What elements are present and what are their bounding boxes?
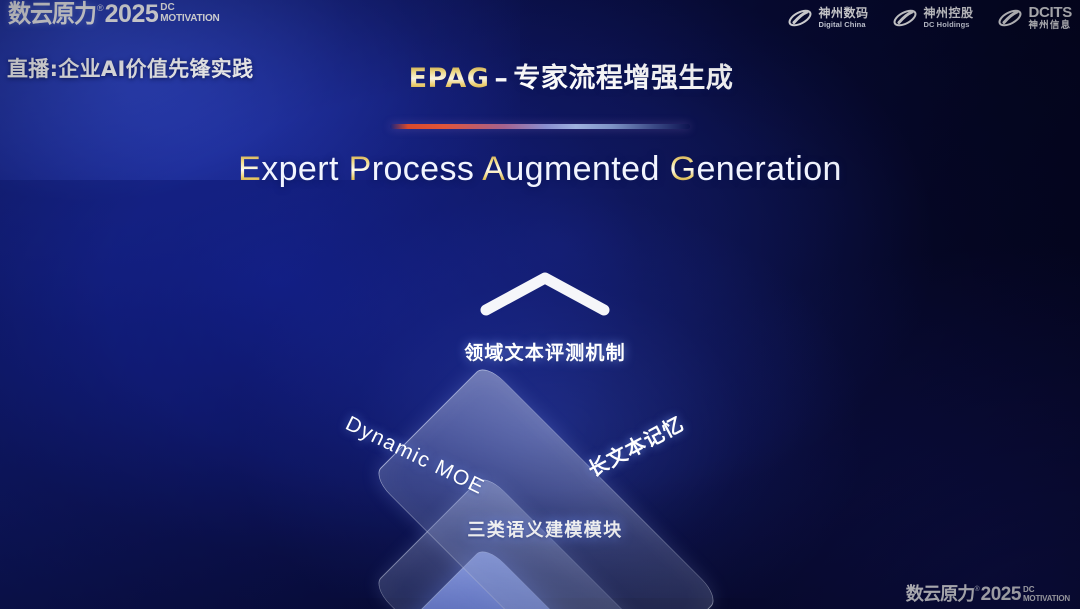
subtitle-part-6: G [670, 150, 697, 188]
layered-architecture-diagram: 领域文本评测机制 Dynamic MOE 长文本记忆 三类语义建模模块 [300, 228, 790, 568]
brand-year: 2025 [105, 2, 159, 27]
logo-en-name: DCITS [1028, 5, 1072, 20]
subtitle-part-4: A [482, 150, 505, 188]
swirl-logo-icon [787, 7, 813, 29]
brand-motivation-label: MOTIVATION [160, 13, 219, 24]
subtitle-part-1: xpert [261, 150, 348, 188]
watermark-year: 2025 [981, 585, 1021, 605]
logo-dcits: DCITS 神州信息 [997, 5, 1072, 31]
logo-en-name: Digital China [818, 20, 868, 29]
slide-subtitle: Expert Process Augmented Generation [0, 150, 1080, 189]
diagram-layer-top-label: 领域文本评测机制 [300, 338, 790, 365]
watermark-name-cn: 数云原力 [906, 585, 975, 605]
partner-logo-group: 神州数码 Digital China 神州控股 DC Holdings DCIT… [787, 5, 1072, 31]
brand-registered-mark: ® [97, 2, 104, 14]
brand-dc-motivation: DC MOTIVATION [160, 2, 219, 24]
brand-name-cn: 数云原力 [8, 2, 96, 28]
subtitle-part-3: rocess [372, 150, 483, 188]
slide-canvas: 数云原力 ® 2025 DC MOTIVATION 直播:企业AI价值先锋实践 … [0, 0, 1080, 609]
watermark-motivation-label: MOTIVATION [1023, 594, 1070, 603]
watermark-logo: 数云原力 ® 2025 DC MOTIVATION [906, 585, 1070, 605]
subtitle-part-7: eneration [696, 150, 841, 188]
brand-logo: 数云原力 ® 2025 DC MOTIVATION [8, 2, 220, 28]
logo-digital-china-text: 神州数码 Digital China [818, 7, 868, 29]
title-acronym: EPAG [409, 63, 490, 94]
title-chinese: 专家流程增强生成 [513, 63, 733, 94]
subtitle-part-0: E [238, 150, 261, 188]
logo-dc-holdings: 神州控股 DC Holdings [892, 7, 973, 29]
subtitle-part-5: ugmented [505, 150, 669, 188]
subtitle-part-2: P [349, 150, 372, 188]
swirl-logo-icon [892, 7, 918, 29]
title-divider [390, 124, 690, 129]
logo-digital-china: 神州数码 Digital China [787, 7, 868, 29]
watermark-dc-motivation: DC MOTIVATION [1023, 585, 1070, 603]
watermark-dc-label: DC [1023, 586, 1070, 594]
logo-cn-name: 神州数码 [818, 7, 868, 20]
brand-dc-label: DC [160, 3, 219, 13]
live-stream-label: 直播:企业AI价值先锋实践 [7, 53, 253, 83]
logo-cn-name: 神州控股 [923, 7, 973, 20]
logo-cn-name: 神州信息 [1028, 20, 1072, 31]
logo-dc-holdings-text: 神州控股 DC Holdings [923, 7, 973, 29]
logo-dcits-text: DCITS 神州信息 [1028, 5, 1072, 31]
chevron-up-icon [478, 270, 612, 316]
swirl-logo-icon [997, 7, 1023, 29]
logo-en-name: DC Holdings [923, 20, 973, 29]
watermark-registered-mark: ® [975, 585, 980, 594]
diagram-layer-middle-label-right: 长文本记忆 [582, 408, 688, 483]
title-dash: – [489, 63, 513, 94]
